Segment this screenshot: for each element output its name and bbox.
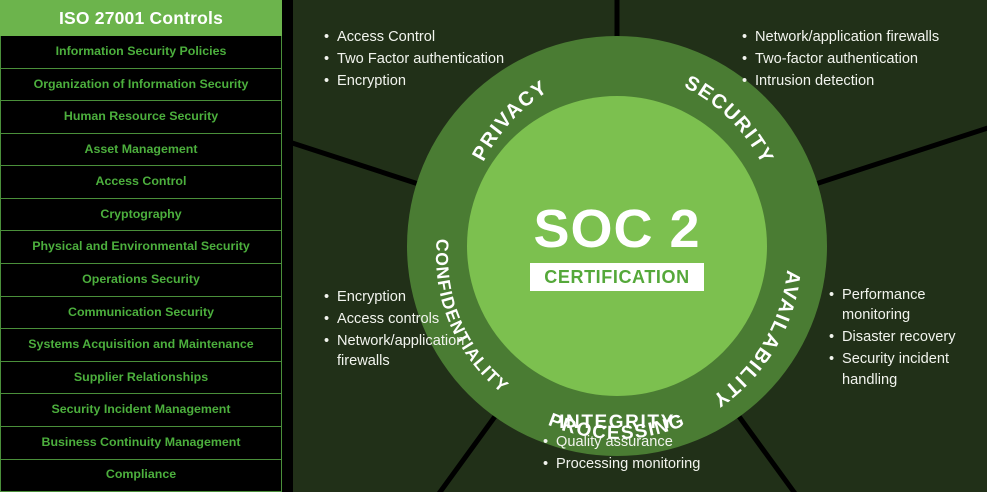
list-item: Quality assurance [543, 432, 783, 452]
sidebar-item-label: Compliance [106, 468, 176, 482]
sidebar-item-compliance[interactable]: Compliance [0, 460, 282, 492]
list-item: Two Factor authentication [324, 49, 554, 69]
list-item: Encryption [324, 287, 499, 307]
list-item: Security incident handling [829, 349, 979, 389]
availability-control-list: Performance monitoring Disaster recovery… [829, 285, 979, 392]
sidebar-item-label: Physical and Environmental Security [32, 240, 250, 254]
list-item: Encryption [324, 71, 554, 91]
iso-27001-controls-sidebar: ISO 27001 Controls Information Security … [0, 0, 282, 492]
sidebar-item-organization-of-information-security[interactable]: Organization of Information Security [0, 69, 282, 102]
soc2-center-circle: SOC 2 CERTIFICATION [467, 96, 767, 396]
list-item: Processing monitoring [543, 454, 783, 474]
sidebar-item-label: Asset Management [85, 143, 198, 157]
sidebar-item-label: Access Control [96, 175, 187, 189]
sidebar-item-label: Cryptography [100, 208, 181, 222]
list-item: Access Control [324, 27, 554, 47]
sidebar-item-label: Communication Security [68, 306, 214, 320]
sidebar-item-physical-and-environmental-security[interactable]: Physical and Environmental Security [0, 231, 282, 264]
certification-badge: CERTIFICATION [530, 263, 703, 291]
sidebar-item-asset-management[interactable]: Asset Management [0, 134, 282, 167]
sidebar-item-label: Operations Security [82, 273, 200, 287]
list-item: Network/application firewalls [742, 27, 982, 47]
list-item: Disaster recovery [829, 327, 979, 347]
sidebar-item-business-continuity-management[interactable]: Business Continuity Management [0, 427, 282, 460]
sidebar-item-cryptography[interactable]: Cryptography [0, 199, 282, 232]
sidebar-item-operations-security[interactable]: Operations Security [0, 264, 282, 297]
soc2-trust-principles-diagram: PRIVACY SECURITY AVAILABILITY PROCESSING… [293, 0, 987, 492]
sidebar-item-label: Business Continuity Management [42, 436, 241, 450]
list-item: Intrusion detection [742, 71, 982, 91]
sidebar-item-communication-security[interactable]: Communication Security [0, 297, 282, 330]
sidebar-item-systems-acquisition-and-maintenance[interactable]: Systems Acquisition and Maintenance [0, 329, 282, 362]
processing-integrity-control-list: Quality assurance Processing monitoring [543, 432, 783, 476]
sidebar-item-supplier-relationships[interactable]: Supplier Relationships [0, 362, 282, 395]
list-item: Access controls [324, 309, 499, 329]
security-control-list: Network/application firewalls Two-factor… [742, 27, 982, 93]
sidebar-header-title: ISO 27001 Controls [0, 0, 282, 36]
soc2-title: SOC 2 [533, 202, 700, 256]
list-item: Two-factor authentication [742, 49, 982, 69]
sidebar-item-label: Information Security Policies [56, 45, 227, 59]
sidebar-item-access-control[interactable]: Access Control [0, 166, 282, 199]
list-item: Network/application firewalls [324, 331, 499, 371]
sidebar-item-label: Systems Acquisition and Maintenance [28, 338, 253, 352]
privacy-control-list: Access Control Two Factor authentication… [324, 27, 554, 93]
sidebar-item-label: Human Resource Security [64, 110, 218, 124]
sidebar-item-human-resource-security[interactable]: Human Resource Security [0, 101, 282, 134]
sidebar-item-label: Supplier Relationships [74, 371, 208, 385]
sidebar-item-label: Organization of Information Security [34, 78, 249, 92]
sidebar-item-information-security-policies[interactable]: Information Security Policies [0, 36, 282, 69]
list-item: Performance monitoring [829, 285, 979, 325]
sidebar-item-security-incident-management[interactable]: Security Incident Management [0, 394, 282, 427]
sidebar-item-label: Security Incident Management [51, 403, 230, 417]
confidentiality-control-list: Encryption Access controls Network/appli… [324, 287, 499, 374]
